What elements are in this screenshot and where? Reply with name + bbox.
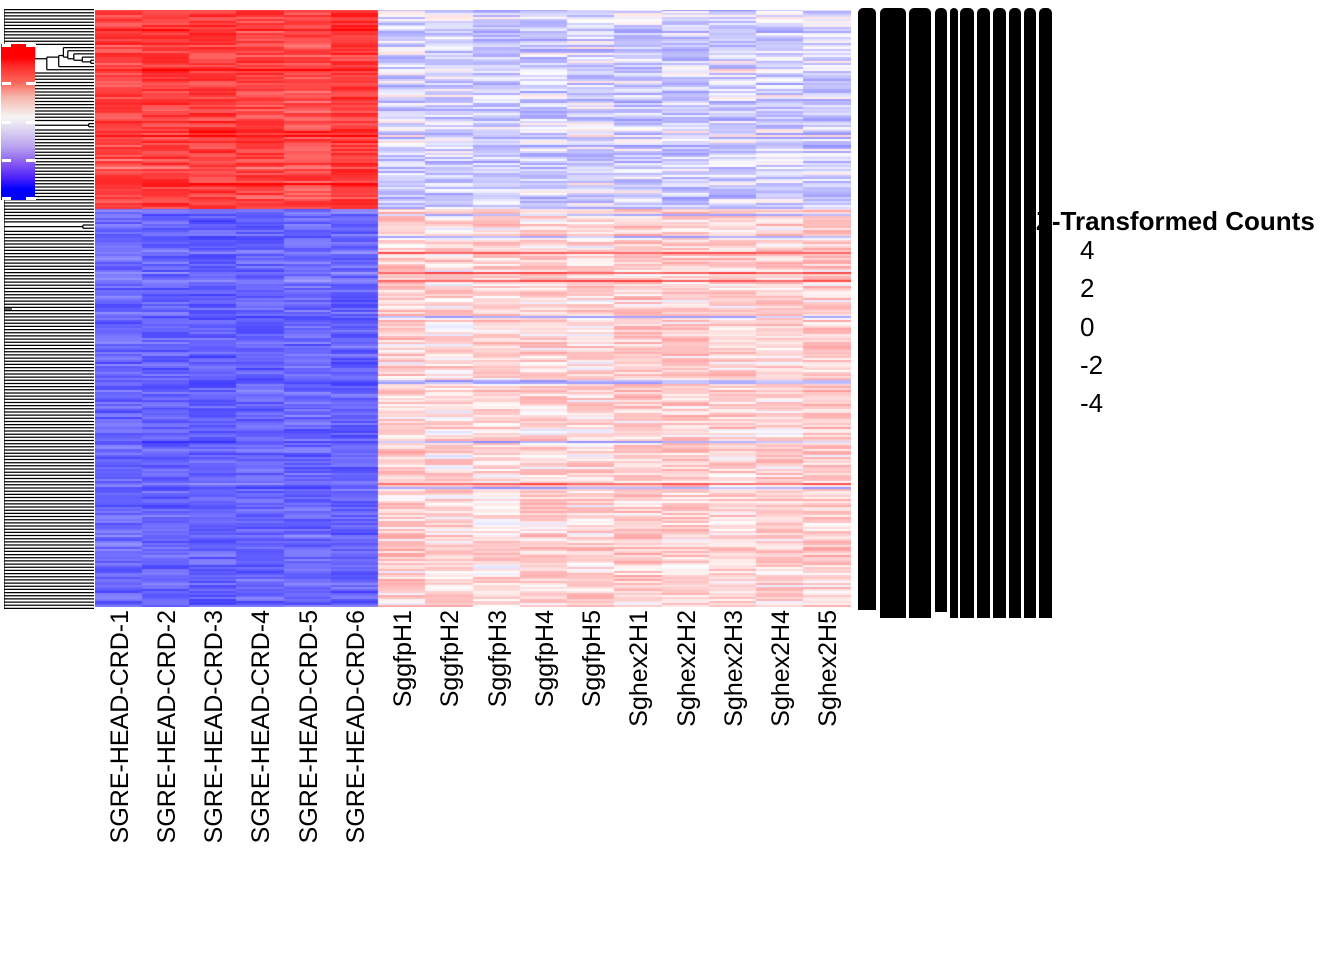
row-label-bar [950, 8, 958, 618]
legend-tick-mark [2, 44, 11, 47]
row-label-bar [880, 8, 906, 618]
legend-tick-mark [26, 159, 36, 162]
row-labels: 8 [858, 8, 1016, 618]
legend-colorbar [1, 44, 35, 200]
legend-tick-label-1: 2 [1080, 275, 1094, 301]
column-labels: SGRE-HEAD-CRD-1SGRE-HEAD-CRD-2SGRE-HEAD-… [95, 610, 851, 950]
column-label-11: Sghex2H1 [625, 610, 654, 727]
row-label-bar [858, 8, 876, 610]
column-label-9: SggfpH4 [531, 610, 560, 707]
column-label-5: SGRE-HEAD-CRD-6 [342, 610, 371, 843]
legend-tick-mark [2, 82, 11, 85]
legend-tick-mark [2, 197, 11, 200]
column-label-14: Sghex2H4 [767, 610, 796, 727]
row-label-bar [1009, 8, 1021, 618]
legend-tick-mark [2, 121, 11, 124]
column-label-4: SGRE-HEAD-CRD-5 [295, 610, 324, 843]
legend-tick-label-2: 0 [1080, 314, 1094, 340]
column-label-7: SggfpH2 [436, 610, 465, 707]
column-label-3: SGRE-HEAD-CRD-4 [247, 610, 276, 843]
legend-tick-mark [26, 82, 36, 85]
row-label-bar [977, 8, 990, 618]
column-label-13: Sghex2H3 [720, 610, 749, 727]
legend-tick-mark [2, 159, 11, 162]
legend-tick-label-3: -2 [1080, 352, 1103, 378]
legend: Z-Transformed Counts 420-2-4 [1036, 206, 1336, 421]
legend-title: Z-Transformed Counts [1036, 206, 1315, 237]
legend-tick-mark [26, 44, 36, 47]
legend-tick-label-0: 4 [1080, 237, 1094, 263]
column-label-1: SGRE-HEAD-CRD-2 [153, 610, 182, 843]
row-label-bar [1024, 8, 1036, 618]
column-label-8: SggfpH3 [484, 610, 513, 707]
heatmap-matrix[interactable] [95, 10, 851, 607]
heatmap-figure: SGRE-HEAD-CRD-1SGRE-HEAD-CRD-2SGRE-HEAD-… [0, 0, 1344, 960]
heatmap-canvas[interactable] [95, 10, 851, 607]
row-label-bar [960, 8, 974, 618]
row-label-bar [935, 8, 947, 612]
legend-tick-mark [26, 121, 36, 124]
legend-tick-label-4: -4 [1080, 390, 1103, 416]
column-label-15: Sghex2H5 [814, 610, 843, 727]
row-label-bar [909, 8, 931, 618]
legend-tick-mark [26, 197, 36, 200]
column-label-0: SGRE-HEAD-CRD-1 [106, 610, 135, 843]
column-label-6: SggfpH1 [389, 610, 418, 707]
column-label-2: SGRE-HEAD-CRD-3 [200, 610, 229, 843]
column-label-12: Sghex2H2 [673, 610, 702, 727]
row-label-bar [993, 8, 1006, 618]
column-label-10: SggfpH5 [578, 610, 607, 707]
